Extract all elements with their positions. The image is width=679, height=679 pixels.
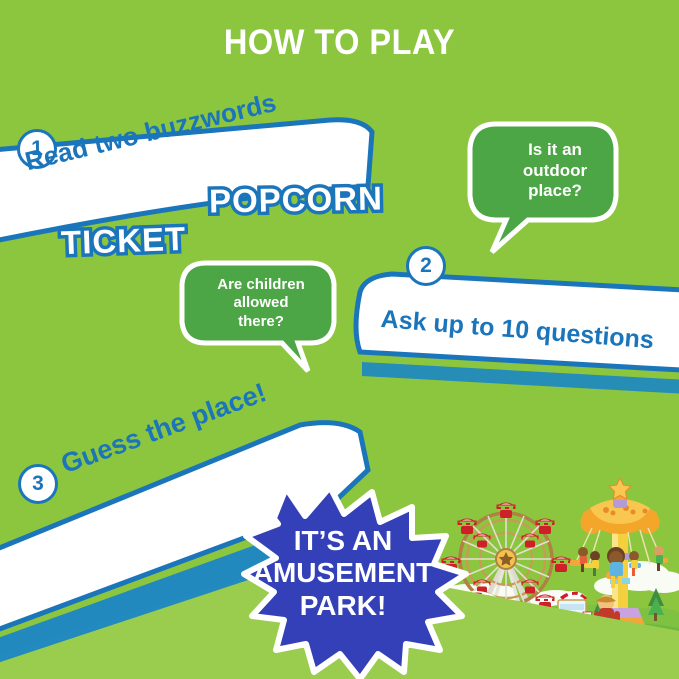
question-children-line-3: there?: [196, 313, 326, 331]
question-children-line-2: allowed: [196, 294, 326, 312]
question-children: Are children allowed there?: [196, 276, 326, 331]
answer-text: IT’S AN AMUSEMENT PARK!: [243, 525, 443, 622]
answer-line-1: IT’S AN: [243, 525, 443, 557]
step-number-2: 2: [406, 246, 446, 286]
step-number-3: 3: [18, 464, 58, 504]
answer-line-2: AMUSEMENT: [243, 557, 443, 589]
question-outdoor-line-2: outdoor: [495, 161, 615, 182]
question-outdoor-line-3: place?: [495, 181, 615, 202]
poster-canvas: TICKET: [0, 0, 679, 679]
question-outdoor: Is it an outdoor place?: [495, 140, 615, 202]
page-title: HOW TO PLAY: [24, 23, 655, 63]
question-children-line-1: Are children: [196, 276, 326, 294]
buzzword-popcorn: POPCORN: [209, 179, 383, 220]
question-outdoor-line-1: Is it an: [495, 140, 615, 161]
answer-line-3: PARK!: [243, 590, 443, 622]
buzzword-ticket: TICKET: [60, 220, 186, 262]
